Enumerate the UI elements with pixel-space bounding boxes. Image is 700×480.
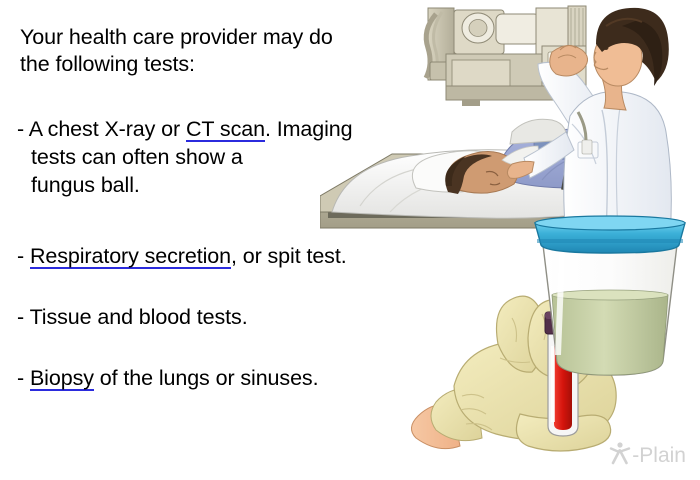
bullet-1-segment-3: . Imaging xyxy=(265,117,353,141)
bullet-dash: - xyxy=(17,305,24,329)
x-plain-logo-text: -Plain xyxy=(632,444,686,468)
intro-text: Your health care provider may do the fol… xyxy=(20,24,450,78)
intro-line-1: Your health care provider may do xyxy=(20,25,333,49)
bullet-dash: - xyxy=(17,244,24,268)
list-item: - Respiratory secretion, or spit test. xyxy=(17,242,457,270)
bullet-2-segment-2: , or spit test. xyxy=(231,244,347,268)
slide-canvas: Your health care provider may do the fol… xyxy=(0,0,700,480)
link-biopsy[interactable]: Biopsy xyxy=(30,368,94,391)
bullet-3-text: Tissue and blood tests. xyxy=(30,305,248,329)
bullet-1-line-3: fungus ball. xyxy=(17,171,457,199)
bullet-dash: - xyxy=(17,117,24,141)
intro-line-2: the following tests: xyxy=(20,52,195,76)
bullet-4-segment-2: of the lungs or sinuses. xyxy=(94,366,319,390)
link-respiratory-secretion[interactable]: Respiratory secretion xyxy=(30,246,231,269)
x-plain-logo: -Plain xyxy=(609,441,686,470)
specimen-cup-illustration xyxy=(525,215,700,405)
link-ct-scan[interactable]: CT scan xyxy=(186,119,265,142)
x-plain-figure-icon xyxy=(609,441,631,470)
list-item: - A chest X-ray or CT scan. Imaging test… xyxy=(17,115,457,199)
list-item: - Biopsy of the lungs or sinuses. xyxy=(17,364,457,392)
bullet-dash: - xyxy=(17,366,24,390)
bullet-1-segment-1: A chest X-ray or xyxy=(29,117,186,141)
list-item: - Tissue and blood tests. xyxy=(17,303,457,331)
bullet-1-line-2: tests can often show a xyxy=(17,143,457,171)
